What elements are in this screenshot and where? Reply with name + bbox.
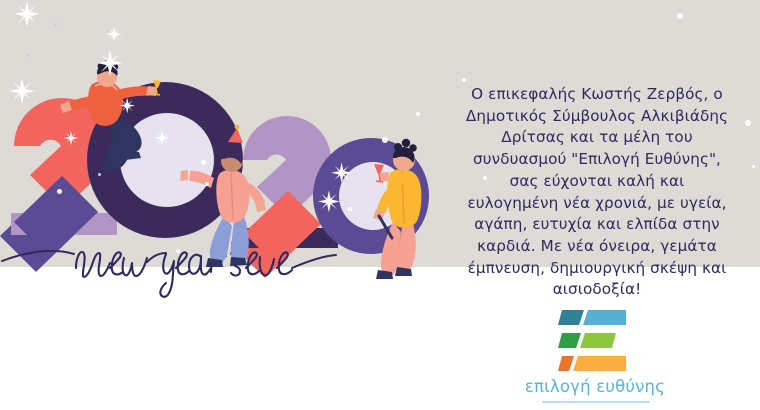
greeting-message: Ο επικεφαλής Κωστής Ζερβός, ο Δημοτικός …: [438, 84, 756, 301]
greeting-line: έμπνευση, δημιουργική σκέψη και: [438, 258, 756, 280]
greeting-line: συνδυασμού "Επιλογή Ευθύνης",: [438, 149, 756, 171]
logo-bar-1-right: [583, 310, 626, 325]
logo-wordmark: επιλογή ευθύνης: [495, 377, 695, 396]
greeting-line: σας εύχονται καλή και: [438, 171, 756, 193]
logo-bar-1-left: [558, 310, 584, 325]
greeting-line: αγάπη, ευτυχία και ελπίδα στην: [438, 214, 756, 236]
greeting-line: ευλογημένη νέα χρονιά, με υγεία,: [438, 193, 756, 215]
logo-bar-2-right: [580, 333, 616, 348]
greeting-line: Δρίτσας και τα μέλη του: [438, 127, 756, 149]
new-year-illustration: [0, 0, 440, 300]
organization-logo: επιλογή ευθύνης: [495, 305, 695, 405]
greeting-line: Δημοτικός Σύμβουλος Αλκιβιάδης: [438, 106, 756, 128]
logo-bar-3-right: [573, 356, 626, 371]
logo-bar-2-left: [558, 333, 581, 348]
new-year-greeting-card: Ο επικεφαλής Κωστής Ζερβός, ο Δημοτικός …: [0, 0, 760, 410]
greeting-line: Ο επικεφαλής Κωστής Ζερβός, ο: [438, 84, 756, 106]
greeting-line: καρδιά. Με νέα όνειρα, γεμάτα: [438, 236, 756, 258]
logo-mark-e-icon: [558, 308, 638, 374]
logo-underline: [542, 401, 650, 403]
greeting-line: αισιοδοξία!: [438, 279, 756, 301]
logo-bar-3-left: [558, 356, 574, 371]
